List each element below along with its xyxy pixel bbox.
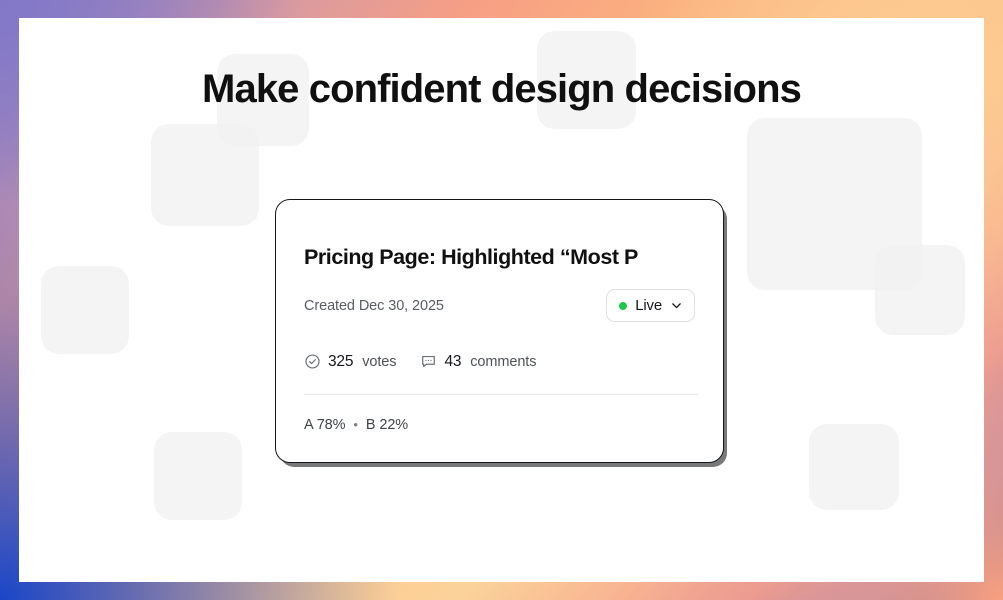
variant-b-share: B 22% xyxy=(366,417,408,433)
votes-label: votes xyxy=(362,354,396,370)
votes-count: 325 xyxy=(328,353,353,371)
comments-label: comments xyxy=(470,354,536,370)
comment-bubble-icon xyxy=(420,353,437,370)
status-label: Live xyxy=(635,297,662,314)
comments-count: 43 xyxy=(444,353,461,371)
deco-square-8 xyxy=(809,424,899,510)
white-canvas: Make confident design decisions Pricing … xyxy=(19,18,984,582)
poll-result-card: Pricing Page: Highlighted “Most P Create… xyxy=(275,199,724,463)
split-separator: • xyxy=(353,417,357,432)
comments-stat: 43 comments xyxy=(420,353,536,371)
votes-stat: 325 votes xyxy=(304,353,396,371)
card-stats-row: 325 votes 43 comments xyxy=(304,352,695,372)
page-title: Make confident design decisions xyxy=(19,67,984,112)
chevron-down-icon xyxy=(670,299,683,312)
card-divider xyxy=(304,394,698,395)
variant-a-share: A 78% xyxy=(304,417,345,433)
card-title: Pricing Page: Highlighted “Most P xyxy=(304,246,724,270)
check-circle-icon xyxy=(304,353,321,370)
deco-square-4 xyxy=(41,266,129,354)
green-dot-icon xyxy=(619,302,627,310)
created-date-label: Created Dec 30, 2025 xyxy=(304,298,444,314)
status-dropdown[interactable]: Live xyxy=(606,289,695,322)
variant-split-row: A 78% • B 22% xyxy=(304,417,695,433)
deco-square-7 xyxy=(154,432,242,520)
gradient-frame: Make confident design decisions Pricing … xyxy=(0,0,1003,600)
deco-square-6 xyxy=(875,245,965,335)
card-meta-row: Created Dec 30, 2025 Live xyxy=(304,289,695,323)
